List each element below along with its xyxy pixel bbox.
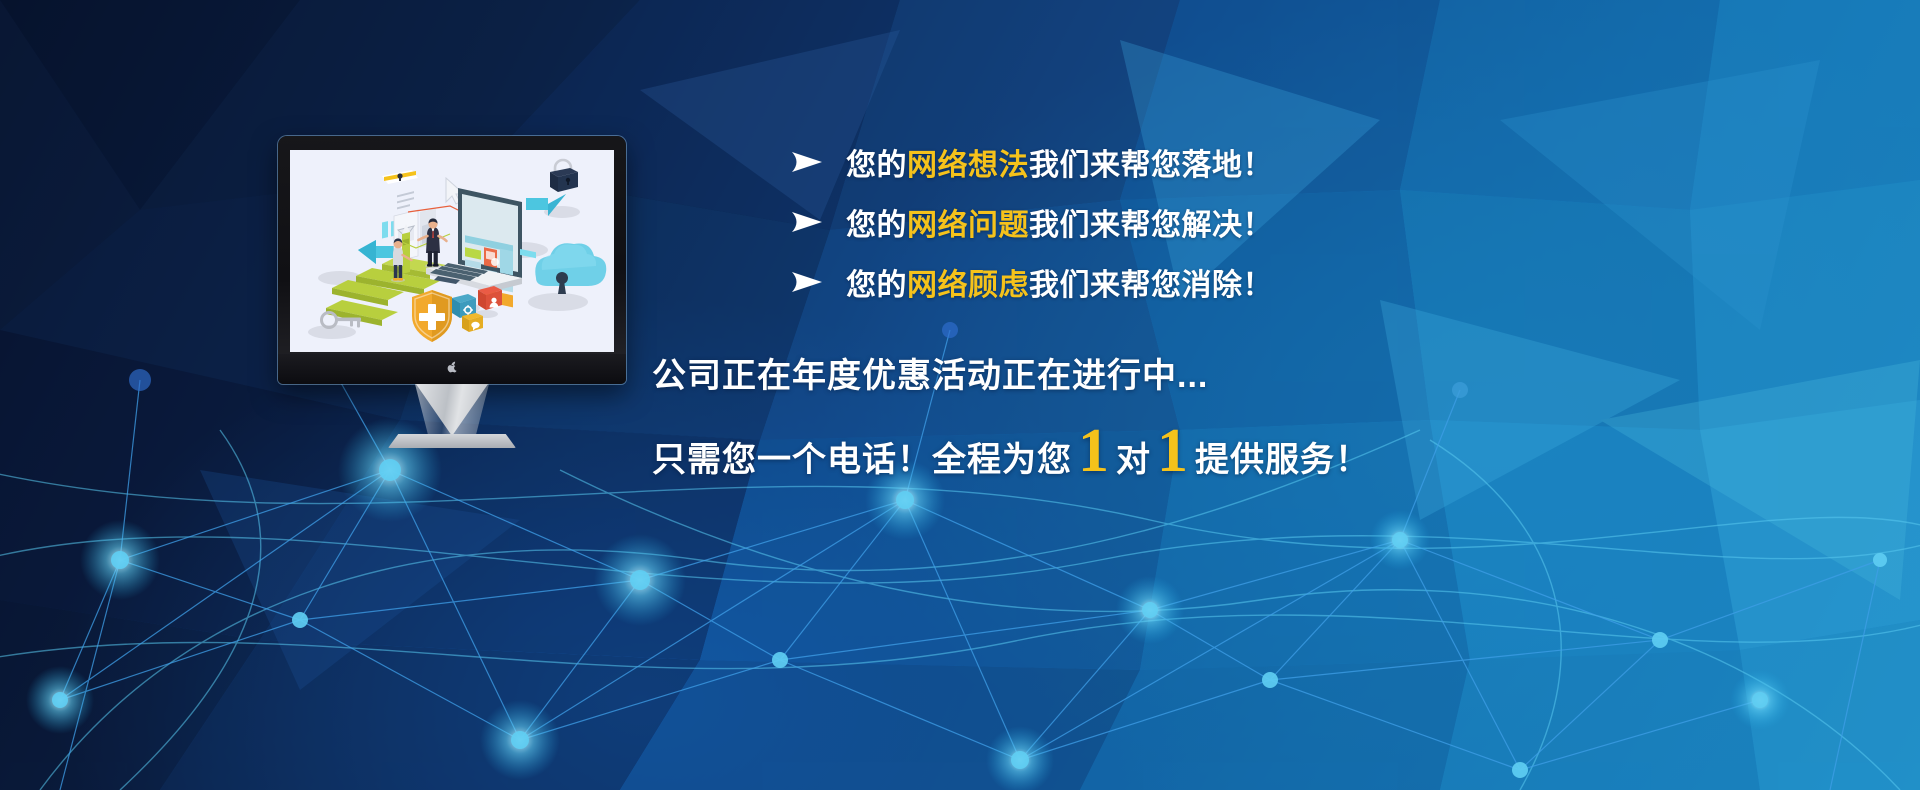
bullet-highlight-2: 网络问题 bbox=[907, 209, 1029, 242]
monitor-bezel bbox=[278, 136, 626, 384]
bullet-row-3: 您的网络顾虑我们来帮您消除！ bbox=[790, 252, 1790, 312]
isometric-network-security-illustration bbox=[290, 150, 614, 352]
cta-segment-2: 对 bbox=[1116, 432, 1151, 481]
monitor-stand-foot bbox=[388, 434, 516, 448]
imac-display bbox=[278, 136, 626, 446]
bullet-row-1: 您的网络想法我们来帮您落地！ bbox=[790, 132, 1790, 192]
bullet-text-3: 您的网络顾虑我们来帮您消除！ bbox=[846, 260, 1273, 304]
arrow-right-icon bbox=[790, 151, 824, 173]
bullet-highlight-3: 网络顾虑 bbox=[907, 269, 1029, 302]
apple-logo bbox=[446, 361, 458, 375]
cta-segment-1: 只需您一个电话！全程为您 bbox=[652, 432, 1072, 481]
bullet-text-1: 您的网络想法我们来帮您落地！ bbox=[846, 140, 1273, 184]
bullet-row-2: 您的网络问题我们来帮您解决！ bbox=[790, 192, 1790, 252]
arrow-right-icon bbox=[790, 211, 824, 233]
promo-text: 公司正在年度优惠活动正在进行中... bbox=[652, 348, 1790, 397]
bullet-suffix-3: 我们来帮您消除！ bbox=[1029, 269, 1273, 302]
monitor-chin bbox=[278, 354, 626, 384]
bullet-prefix-2: 您的 bbox=[846, 209, 907, 242]
monitor-screen bbox=[290, 150, 614, 352]
bullet-prefix-1: 您的 bbox=[846, 149, 907, 182]
bullet-highlight-1: 网络想法 bbox=[907, 149, 1029, 182]
cta-segment-3: 提供服务！ bbox=[1195, 432, 1370, 481]
bullet-prefix-3: 您的 bbox=[846, 269, 907, 302]
arrow-right-icon bbox=[790, 271, 824, 293]
bullet-suffix-2: 我们来帮您解决！ bbox=[1029, 209, 1273, 242]
cta-number-2: 1 bbox=[1157, 427, 1189, 477]
cta-number-1: 1 bbox=[1078, 427, 1110, 477]
bullet-suffix-1: 我们来帮您落地！ bbox=[1029, 149, 1273, 182]
promo-banner: 您的网络想法我们来帮您落地！ 您的网络问题我们来帮您解决！ 您的网络顾虑我们来帮… bbox=[0, 0, 1920, 790]
bullet-text-2: 您的网络问题我们来帮您解决！ bbox=[846, 200, 1273, 244]
call-to-action-line: 只需您一个电话！全程为您 1 对 1 提供服务！ bbox=[652, 427, 1790, 481]
copy-block: 您的网络想法我们来帮您落地！ 您的网络问题我们来帮您解决！ 您的网络顾虑我们来帮… bbox=[790, 132, 1790, 481]
